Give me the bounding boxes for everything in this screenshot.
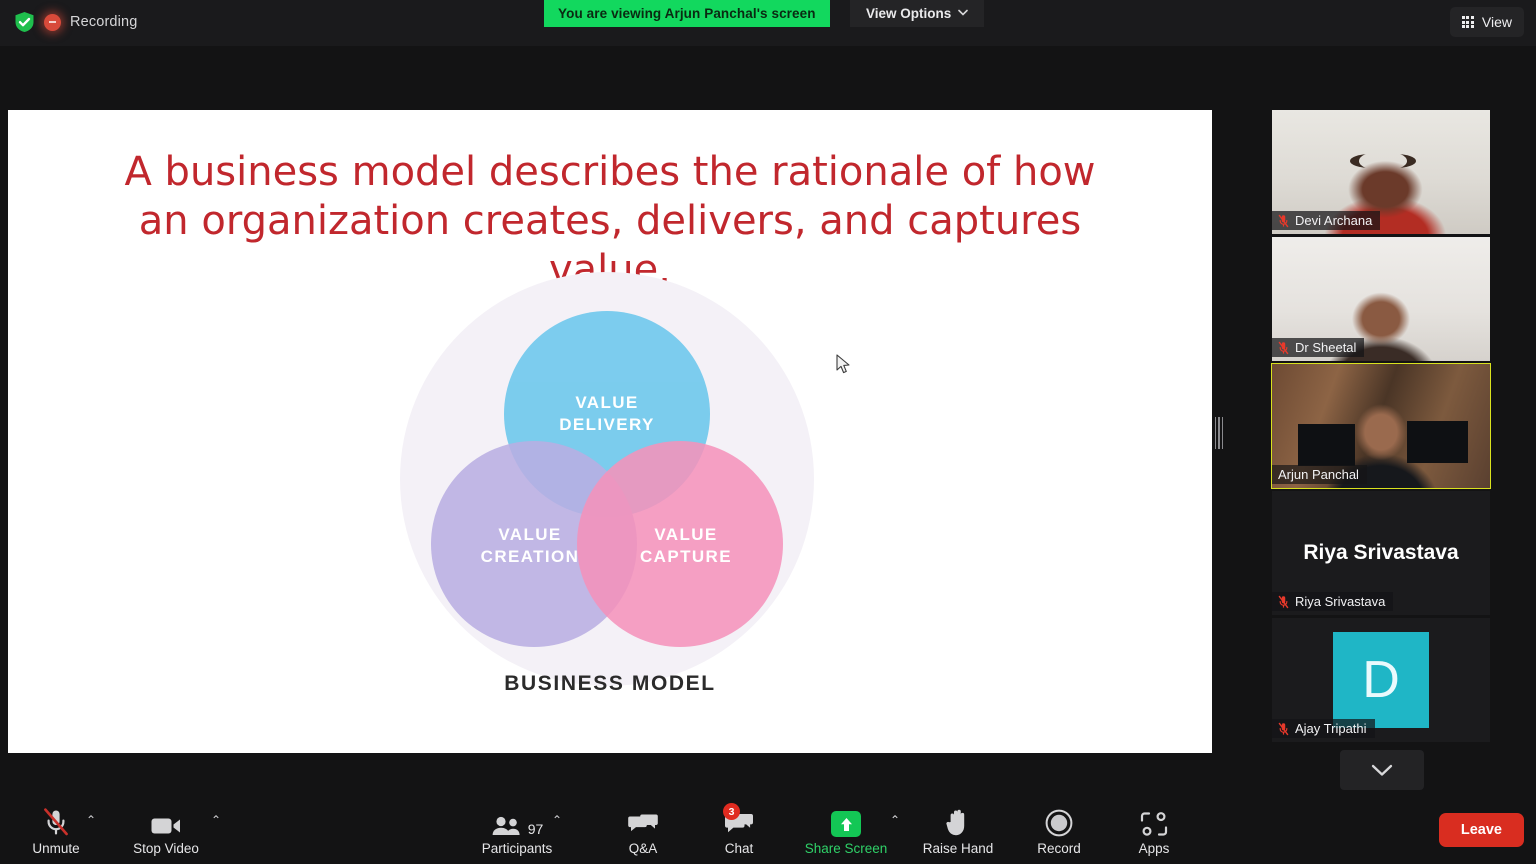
participant-nameplate: Ajay Tripathi [1272,719,1375,738]
recording-label: Recording [70,14,137,30]
chevron-down-icon [958,8,968,19]
microphone-muted-icon [42,807,70,837]
venn-diagram: VALUE DELIVERY VALUE CREATION VALUE CAPT… [8,272,1212,722]
qa-bubbles-icon [627,807,659,837]
venn-label-capture-line2: CAPTURE [640,547,732,566]
participants-options-caret[interactable]: ⌃ [552,814,562,826]
view-options-label: View Options [866,6,951,21]
share-screen-button[interactable]: ⌃ Share Screen [798,807,894,856]
microphone-muted-icon [1278,595,1289,609]
venn-label-delivery-line1: VALUE [575,393,638,412]
scroll-down-button[interactable] [1340,750,1424,790]
meeting-toolbar: ⌃ Unmute ⌃ Stop Video 97 ⌃ Participants … [0,790,1536,864]
recording-dot-icon[interactable] [44,14,61,31]
record-label: Record [1037,842,1081,856]
shared-screen-area[interactable]: A business model describes the rationale… [8,110,1212,753]
qa-button[interactable]: Q&A [595,807,691,856]
view-layout-button[interactable]: View [1450,7,1524,37]
participants-icon: 97 [491,807,544,837]
stop-video-button[interactable]: ⌃ Stop Video [118,807,214,856]
chat-button[interactable]: 3 Chat [691,807,787,856]
participant-nameplate: Dr Sheetal [1272,338,1364,357]
top-bar: Recording You are viewing Arjun Panchal'… [0,0,1536,46]
panel-resize-handle[interactable] [1215,415,1223,451]
participant-name: Dr Sheetal [1295,340,1356,355]
apps-button[interactable]: Apps [1106,807,1202,856]
participant-name: Ajay Tripathi [1295,721,1367,736]
participants-count: 97 [528,821,544,837]
microphone-muted-icon [1278,341,1289,355]
share-screen-label: Share Screen [805,842,888,856]
participant-nameplate: Arjun Panchal [1272,465,1367,484]
qa-label: Q&A [629,842,658,856]
arrow-cursor [836,354,852,381]
video-options-caret[interactable]: ⌃ [211,814,221,826]
chat-bubble-icon: 3 [724,807,754,837]
camera-icon [150,807,182,837]
zoom-meeting-window: Recording You are viewing Arjun Panchal'… [0,0,1536,864]
chevron-down-icon [1371,764,1393,777]
venn-label-delivery-line2: DELIVERY [559,415,655,434]
stop-video-label: Stop Video [133,842,199,856]
record-button[interactable]: Record [1011,807,1107,856]
participant-tile-devi-archana[interactable]: Devi Archana [1272,110,1490,234]
venn-label-creation-line1: VALUE [498,525,561,544]
participant-tile-dr-sheetal[interactable]: Dr Sheetal [1272,237,1490,361]
grid-icon [1462,16,1474,28]
microphone-muted-icon [1278,214,1289,228]
viewing-banner-text: You are viewing Arjun Panchal's screen [558,6,816,21]
unmute-label: Unmute [32,842,79,856]
venn-caption: BUSINESS MODEL [504,672,715,695]
raise-hand-label: Raise Hand [923,842,994,856]
participant-tile-arjun-panchal[interactable]: Arjun Panchal [1272,364,1490,488]
participant-name: Arjun Panchal [1278,467,1359,482]
avatar: D [1333,632,1429,728]
raise-hand-button[interactable]: Raise Hand [910,807,1006,856]
participant-name: Riya Srivastava [1295,594,1385,609]
participant-name: Devi Archana [1295,213,1372,228]
participants-label: Participants [482,842,553,856]
apps-icon [1140,807,1168,837]
chat-unread-badge: 3 [723,803,740,820]
share-up-arrow-icon [831,807,861,837]
participant-nameplate: Devi Archana [1272,211,1380,230]
view-button-label: View [1482,14,1512,30]
apps-label: Apps [1139,842,1170,856]
participants-filmstrip: Devi Archana Dr Sheetal Arjun Panchal Ri… [1272,110,1494,790]
venn-diagram-svg: VALUE DELIVERY VALUE CREATION VALUE CAPT… [370,272,850,722]
microphone-muted-icon [1278,722,1289,736]
recording-status-group: Recording [14,11,137,33]
participant-nameplate: Riya Srivastava [1272,592,1393,611]
shield-check-icon[interactable] [14,11,35,33]
venn-label-creation-line2: CREATION [481,547,580,566]
participant-tile-ajay-tripathi[interactable]: D Ajay Tripathi [1272,618,1490,742]
venn-label-capture-line1: VALUE [654,525,717,544]
participant-tile-riya-srivastava[interactable]: Riya Srivastava Riya Srivastava [1272,491,1490,615]
viewing-screen-banner: You are viewing Arjun Panchal's screen [544,0,830,27]
chat-label: Chat [725,842,754,856]
record-circle-icon [1045,807,1073,837]
participants-button[interactable]: 97 ⌃ Participants [452,807,582,856]
raised-hand-icon [945,807,971,837]
view-options-button[interactable]: View Options [850,0,984,27]
audio-options-caret[interactable]: ⌃ [86,814,96,826]
unmute-button[interactable]: ⌃ Unmute [8,807,104,856]
leave-button[interactable]: Leave [1439,813,1524,847]
venn-circle-value-capture [577,441,783,647]
share-options-caret[interactable]: ⌃ [890,814,900,826]
